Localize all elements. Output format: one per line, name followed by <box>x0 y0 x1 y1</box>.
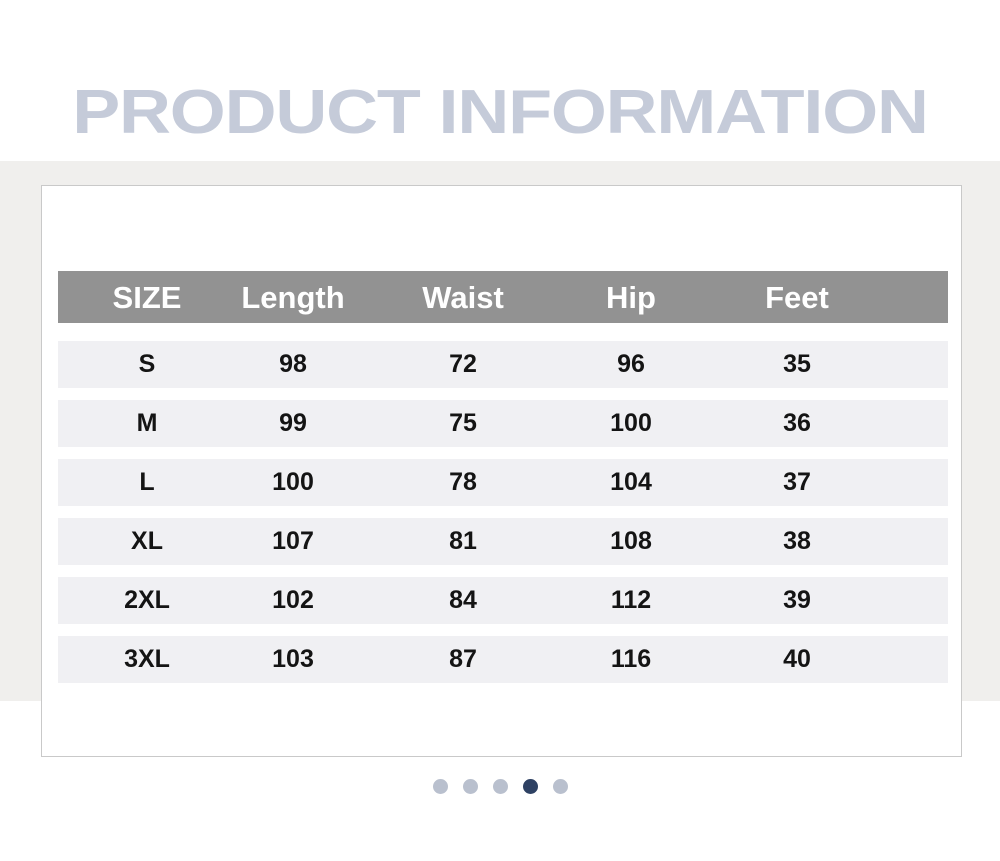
cell-hip: 100 <box>576 411 686 436</box>
table-header-row: SIZE Length Waist Hip Feet <box>58 271 948 323</box>
cell-length: 98 <box>236 352 350 377</box>
pagination-dot-3[interactable] <box>493 779 508 794</box>
column-header-size: SIZE <box>58 282 236 313</box>
table-row: S 98 72 96 35 <box>58 341 948 388</box>
cell-hip: 96 <box>576 352 686 377</box>
cell-waist: 75 <box>350 411 576 436</box>
cell-waist: 72 <box>350 352 576 377</box>
cell-hip: 112 <box>576 588 686 613</box>
table-row: L 100 78 104 37 <box>58 459 948 506</box>
column-header-feet: Feet <box>686 282 908 313</box>
column-header-waist: Waist <box>350 282 576 313</box>
pagination-dot-4[interactable] <box>523 779 538 794</box>
cell-feet: 36 <box>686 411 908 436</box>
cell-length: 102 <box>236 588 350 613</box>
table-row: XL 107 81 108 38 <box>58 518 948 565</box>
cell-length: 100 <box>236 470 350 495</box>
cell-waist: 81 <box>350 529 576 554</box>
cell-size: 3XL <box>58 647 236 672</box>
cell-hip: 108 <box>576 529 686 554</box>
pagination-dot-1[interactable] <box>433 779 448 794</box>
cell-feet: 39 <box>686 588 908 613</box>
table-row: 2XL 102 84 112 39 <box>58 577 948 624</box>
pagination-dot-2[interactable] <box>463 779 478 794</box>
cell-feet: 38 <box>686 529 908 554</box>
cell-size: 2XL <box>58 588 236 613</box>
cell-waist: 87 <box>350 647 576 672</box>
cell-feet: 37 <box>686 470 908 495</box>
cell-length: 99 <box>236 411 350 436</box>
carousel-pagination[interactable] <box>0 779 1000 794</box>
size-chart-card: SIZE Length Waist Hip Feet S 98 72 96 35… <box>41 185 962 757</box>
size-table: SIZE Length Waist Hip Feet S 98 72 96 35… <box>58 271 948 695</box>
product-information-page: PRODUCT INFORMATION SIZE Length Waist Hi… <box>0 0 1000 861</box>
cell-length: 103 <box>236 647 350 672</box>
cell-length: 107 <box>236 529 350 554</box>
cell-waist: 84 <box>350 588 576 613</box>
cell-size: L <box>58 470 236 495</box>
cell-waist: 78 <box>350 470 576 495</box>
cell-feet: 40 <box>686 647 908 672</box>
table-row: 3XL 103 87 116 40 <box>58 636 948 683</box>
cell-size: XL <box>58 529 236 554</box>
cell-hip: 116 <box>576 647 686 672</box>
column-header-length: Length <box>236 282 350 313</box>
cell-size: M <box>58 411 236 436</box>
cell-size: S <box>58 352 236 377</box>
page-title: PRODUCT INFORMATION <box>0 82 1000 144</box>
column-header-hip: Hip <box>576 282 686 313</box>
table-row: M 99 75 100 36 <box>58 400 948 447</box>
pagination-dot-5[interactable] <box>553 779 568 794</box>
cell-feet: 35 <box>686 352 908 377</box>
cell-hip: 104 <box>576 470 686 495</box>
